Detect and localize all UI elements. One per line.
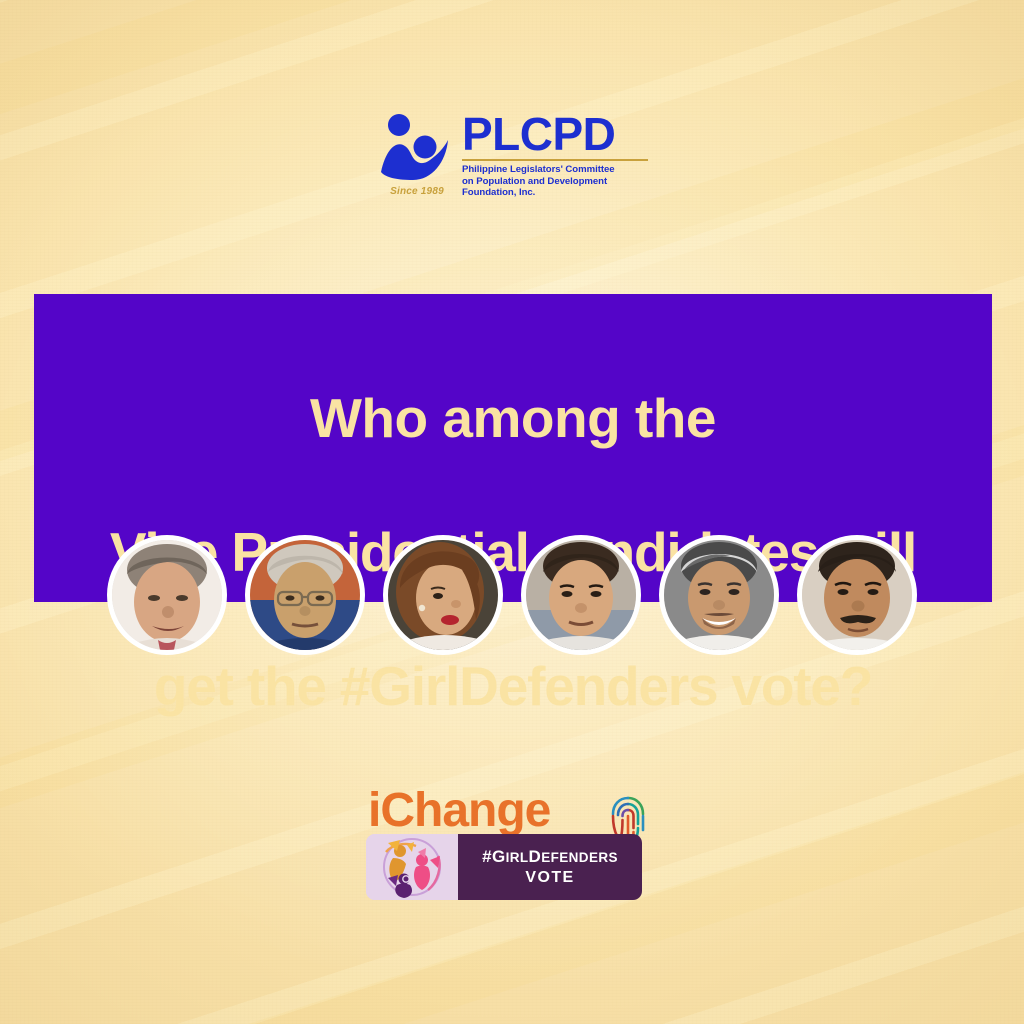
plcpd-tagline-line-3: Foundation, Inc. [462, 187, 648, 199]
badge-g: G [492, 847, 506, 866]
candidate-portrait-3[interactable] [388, 540, 498, 650]
plcpd-figure-mark-icon: Since 1989 [378, 110, 452, 196]
candidate-portrait-2[interactable] [250, 540, 360, 650]
girldefenders-badge-line2: VOTE [525, 868, 574, 888]
candidate-portrait-1[interactable] [112, 540, 222, 650]
headline-line-1: Who among the [34, 385, 992, 452]
plcpd-since-label: Since 1989 [378, 186, 456, 197]
plcpd-text-block: PLCPD Philippine Legislators' Committee … [462, 110, 648, 199]
girldefenders-emblem-icon [366, 834, 458, 900]
ichange-wordmark: iChange [368, 786, 550, 836]
candidate-portrait-4[interactable] [526, 540, 636, 650]
girldefenders-badge-text: #GIRLDEFENDERS VOTE [458, 834, 642, 900]
girldefenders-badge: #GIRLDEFENDERS VOTE [366, 834, 642, 900]
badge-d: D [529, 847, 542, 866]
plcpd-logo: Since 1989 PLCPD Philippine Legislators'… [378, 110, 658, 210]
plcpd-tagline-line-2: on Population and Development [462, 176, 648, 188]
badge-efenders: EFENDERS [541, 850, 618, 865]
candidate-portrait-5[interactable] [664, 540, 774, 650]
plcpd-tagline: Philippine Legislators' Committee on Pop… [462, 164, 648, 199]
candidate-portrait-6[interactable] [802, 540, 912, 650]
plcpd-tagline-line-1: Philippine Legislators' Committee [462, 164, 648, 176]
poster-canvas: Since 1989 PLCPD Philippine Legislators'… [0, 0, 1024, 1024]
candidate-portrait-row [0, 540, 1024, 670]
badge-irl: IRL [506, 850, 529, 865]
badge-hash: # [482, 847, 492, 866]
plcpd-acronym: PLCPD [462, 112, 648, 156]
campaign-logo: iChange [366, 786, 652, 904]
girldefenders-badge-line1: #GIRLDEFENDERS [482, 847, 618, 868]
